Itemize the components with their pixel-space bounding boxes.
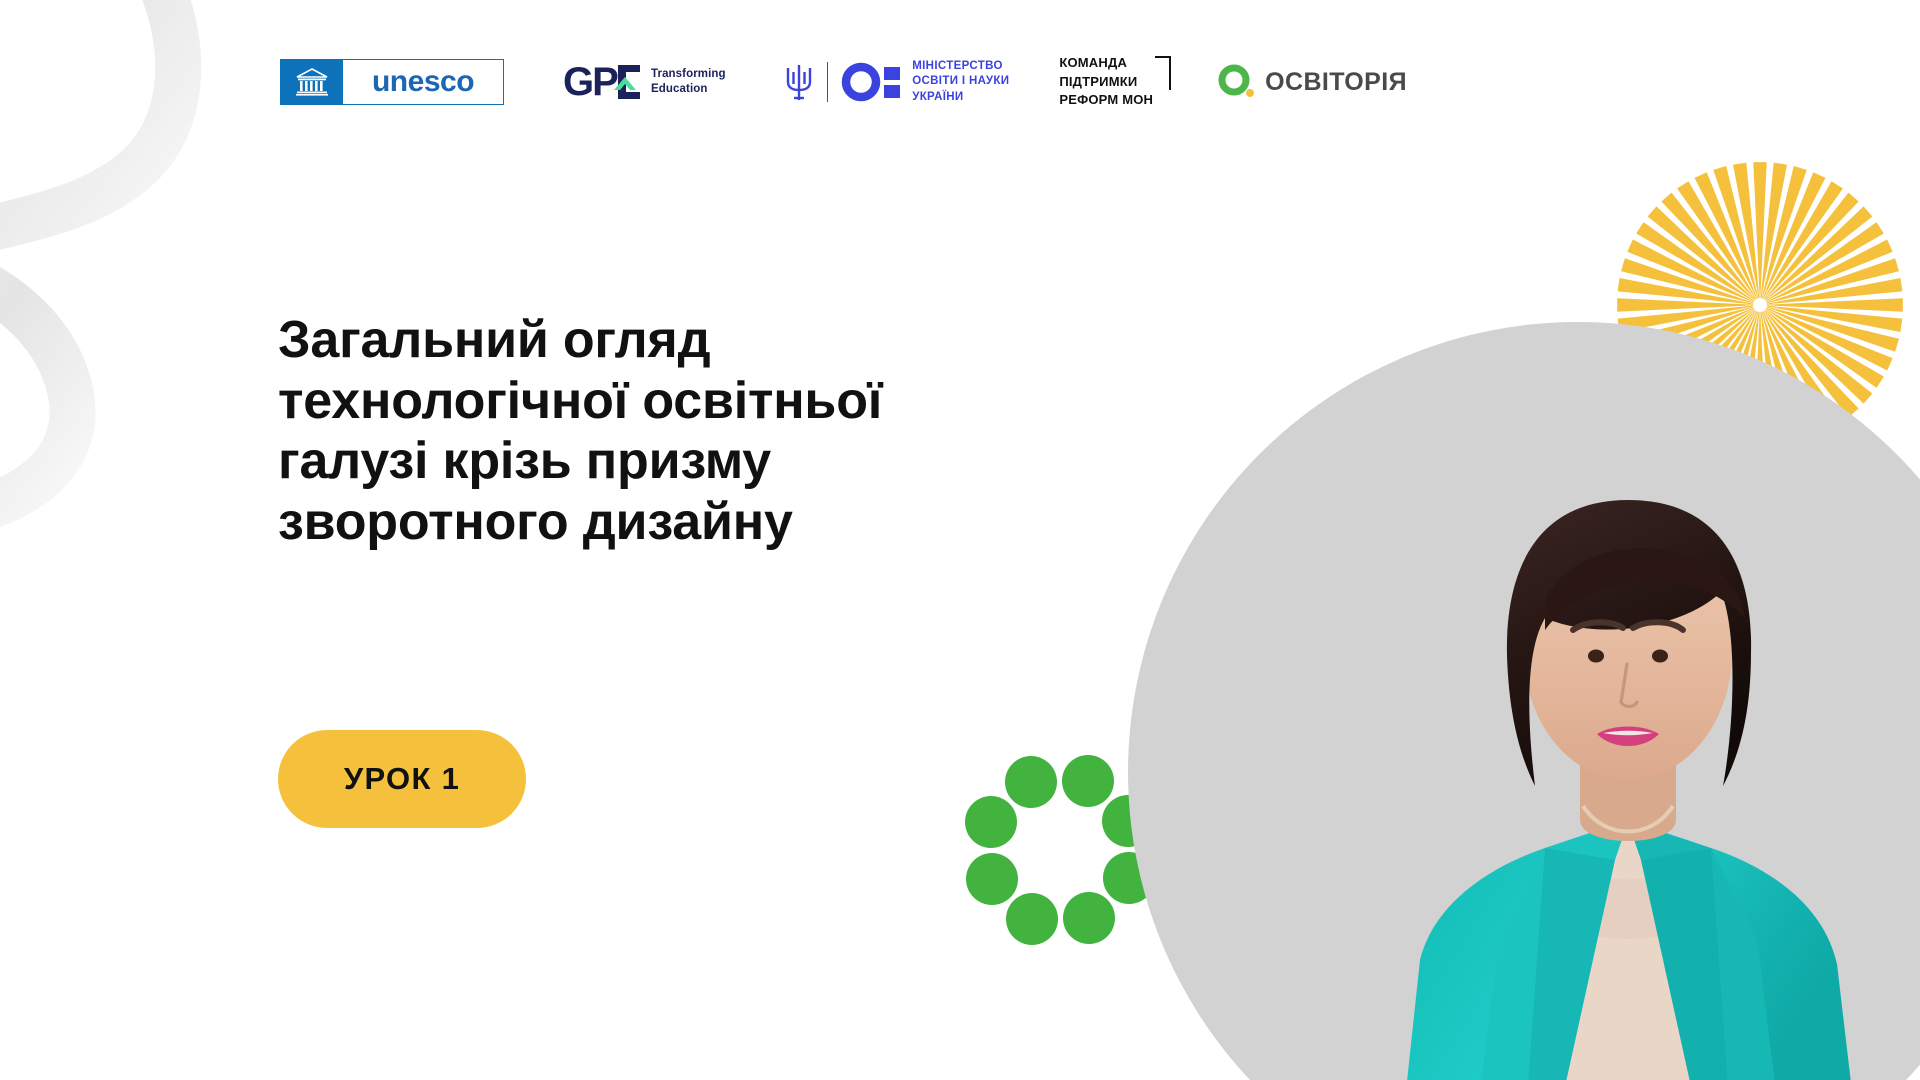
mon-text-line-2: ОСВІТИ І НАУКИ [912,74,1009,90]
gpe-tagline-line-1: Transforming [651,67,726,82]
greek-temple-icon [281,60,343,104]
komanda-bracket-icon [1155,56,1171,90]
mon-divider [827,62,829,102]
headline-line-1: Загальний огляд [278,310,1138,371]
unesco-wordmark: unesco [343,60,503,104]
osvitoria-logo[interactable]: ОСВІТОРІЯ [1217,62,1407,102]
slide-canvas: unesco GP Transforming Education [0,0,1920,1080]
komanda-line-1: КОМАНДА [1059,54,1153,72]
komanda-line-2: ПІДТРИМКИ [1059,73,1153,91]
lesson-badge[interactable]: УРОК 1 [278,730,526,828]
mon-reform-support-team-logo[interactable]: КОМАНДА ПІДТРИМКИ РЕФОРМ МОН [1059,54,1171,109]
osvitoria-wordmark: ОСВІТОРІЯ [1265,68,1407,97]
green-dot [1063,892,1115,944]
headline-line-2: технологічної освітньої [278,371,1138,432]
mon-ukraine-text: МІНІСТЕРСТВО ОСВІТИ І НАУКИ УКРАЇНИ [912,59,1009,106]
mon-ukraine-logo[interactable]: МІНІСТЕРСТВО ОСВІТИ І НАУКИ УКРАЇНИ [784,59,1010,106]
portrait-circle [1128,322,1920,1080]
green-ring-icon [1217,62,1255,102]
page-title: Загальний огляд технологічної освітньої … [278,310,1138,552]
logo-bar: unesco GP Transforming Education [280,48,1407,116]
mon-text-line-1: МІНІСТЕРСТВО [912,59,1009,75]
green-dot [1062,755,1114,807]
green-dot [1005,756,1057,808]
green-dot [965,796,1017,848]
komanda-line-3: РЕФОРМ МОН [1059,91,1153,109]
gpe-tagline-line-2: Education [651,82,726,97]
headline-line-4: зворотного дизайну [278,492,1138,553]
mon-text-line-3: УКРАЇНИ [912,90,1009,106]
svg-text:GP: GP [564,60,618,104]
gpe-logo[interactable]: GP Transforming Education [564,59,726,105]
ukraine-trident-icon [784,60,814,104]
mon-mark-icon [841,62,903,102]
headline-line-3: галузі крізь призму [278,431,1138,492]
green-dot [1006,893,1058,945]
unesco-logo[interactable]: unesco [280,59,504,105]
gpe-tagline: Transforming Education [651,67,726,96]
green-dot [966,853,1018,905]
gpe-mark-icon: GP [564,59,642,105]
